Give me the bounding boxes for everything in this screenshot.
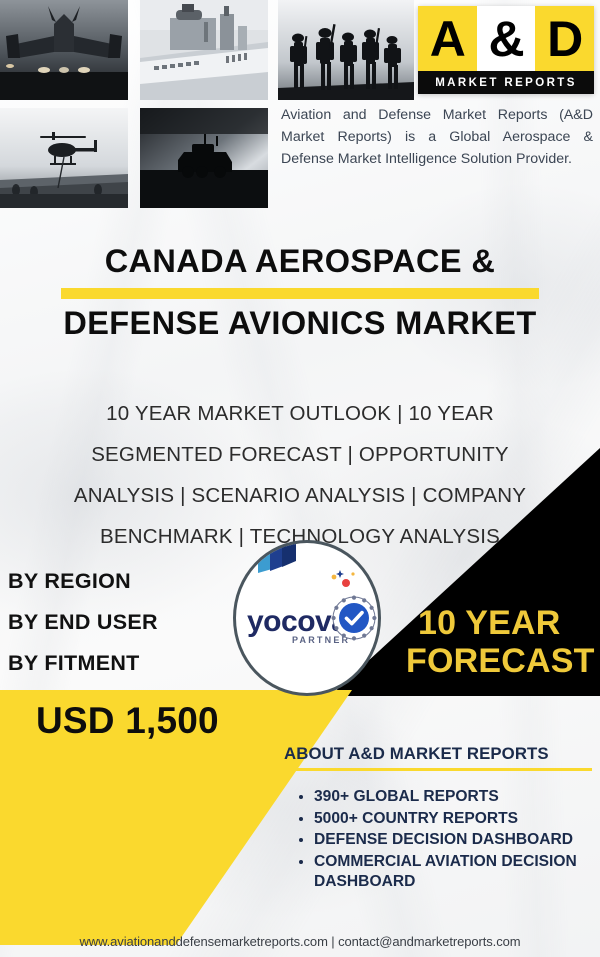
flyer-page: A & D MARKET REPORTS Aviation and Defens… [0, 0, 600, 957]
logo-subtitle: MARKET REPORTS [418, 71, 594, 94]
verified-check-seal-icon [331, 595, 377, 641]
logo-letter-a: A [418, 6, 477, 71]
yocova-partner-badge: yocova PARTNER [233, 540, 381, 696]
fighter-jet-photo [0, 0, 128, 100]
logo-letter-d: D [535, 6, 594, 71]
company-intro-paragraph: Aviation and Defense Market Reports (A&D… [281, 104, 593, 170]
report-scope-subtitle: 10 YEAR MARKET OUTLOOK | 10 YEAR SEGMENT… [48, 393, 552, 557]
segmentation-item-region: BY REGION [8, 561, 158, 602]
ad-market-reports-logo[interactable]: A & D MARKET REPORTS [418, 6, 594, 94]
list-item: 5000+ COUNTRY REPORTS [314, 809, 594, 830]
segmentation-item-fitment: BY FITMENT [8, 643, 158, 684]
logo-letter-ampersand: & [477, 6, 536, 71]
page-title-line1: CANADA AEROSPACE & [0, 243, 600, 281]
yocova-mark-icon [252, 540, 306, 595]
segmentation-item-end-user: BY END USER [8, 602, 158, 643]
soldiers-photo [278, 0, 414, 100]
price-label: USD 1,500 [36, 700, 219, 742]
title-underline-bar [61, 288, 539, 299]
forecast-line1: 10 YEAR [418, 604, 600, 642]
report-title: CANADA AEROSPACE & DEFENSE AVIONICS MARK… [0, 243, 600, 342]
helicopter-photo [0, 108, 128, 208]
warship-photo [140, 0, 268, 100]
footer-contact[interactable]: www.aviationanddefensemarketreports.com … [0, 934, 600, 949]
armored-vehicle-photo [140, 108, 268, 208]
forecast-line2: FORECAST [406, 642, 600, 680]
list-item: DEFENSE DECISION DASHBOARD [314, 830, 594, 851]
about-bullet-list: 390+ GLOBAL REPORTS 5000+ COUNTRY REPORT… [314, 787, 594, 893]
about-section: ABOUT A&D MARKET REPORTS 390+ GLOBAL REP… [284, 744, 594, 894]
sparkle-icon [324, 569, 358, 591]
about-underline-bar [284, 768, 592, 771]
page-title-line2: DEFENSE AVIONICS MARKET [0, 305, 600, 343]
about-heading: ABOUT A&D MARKET REPORTS [284, 744, 594, 764]
list-item: 390+ GLOBAL REPORTS [314, 787, 594, 808]
forecast-callout: 10 YEAR FORECAST [418, 604, 600, 680]
logo-letters: A & D [418, 6, 594, 71]
segmentation-list: BY REGION BY END USER BY FITMENT [8, 561, 158, 684]
list-item: COMMERCIAL AVIATION DECISION DASHBOARD [314, 852, 594, 893]
